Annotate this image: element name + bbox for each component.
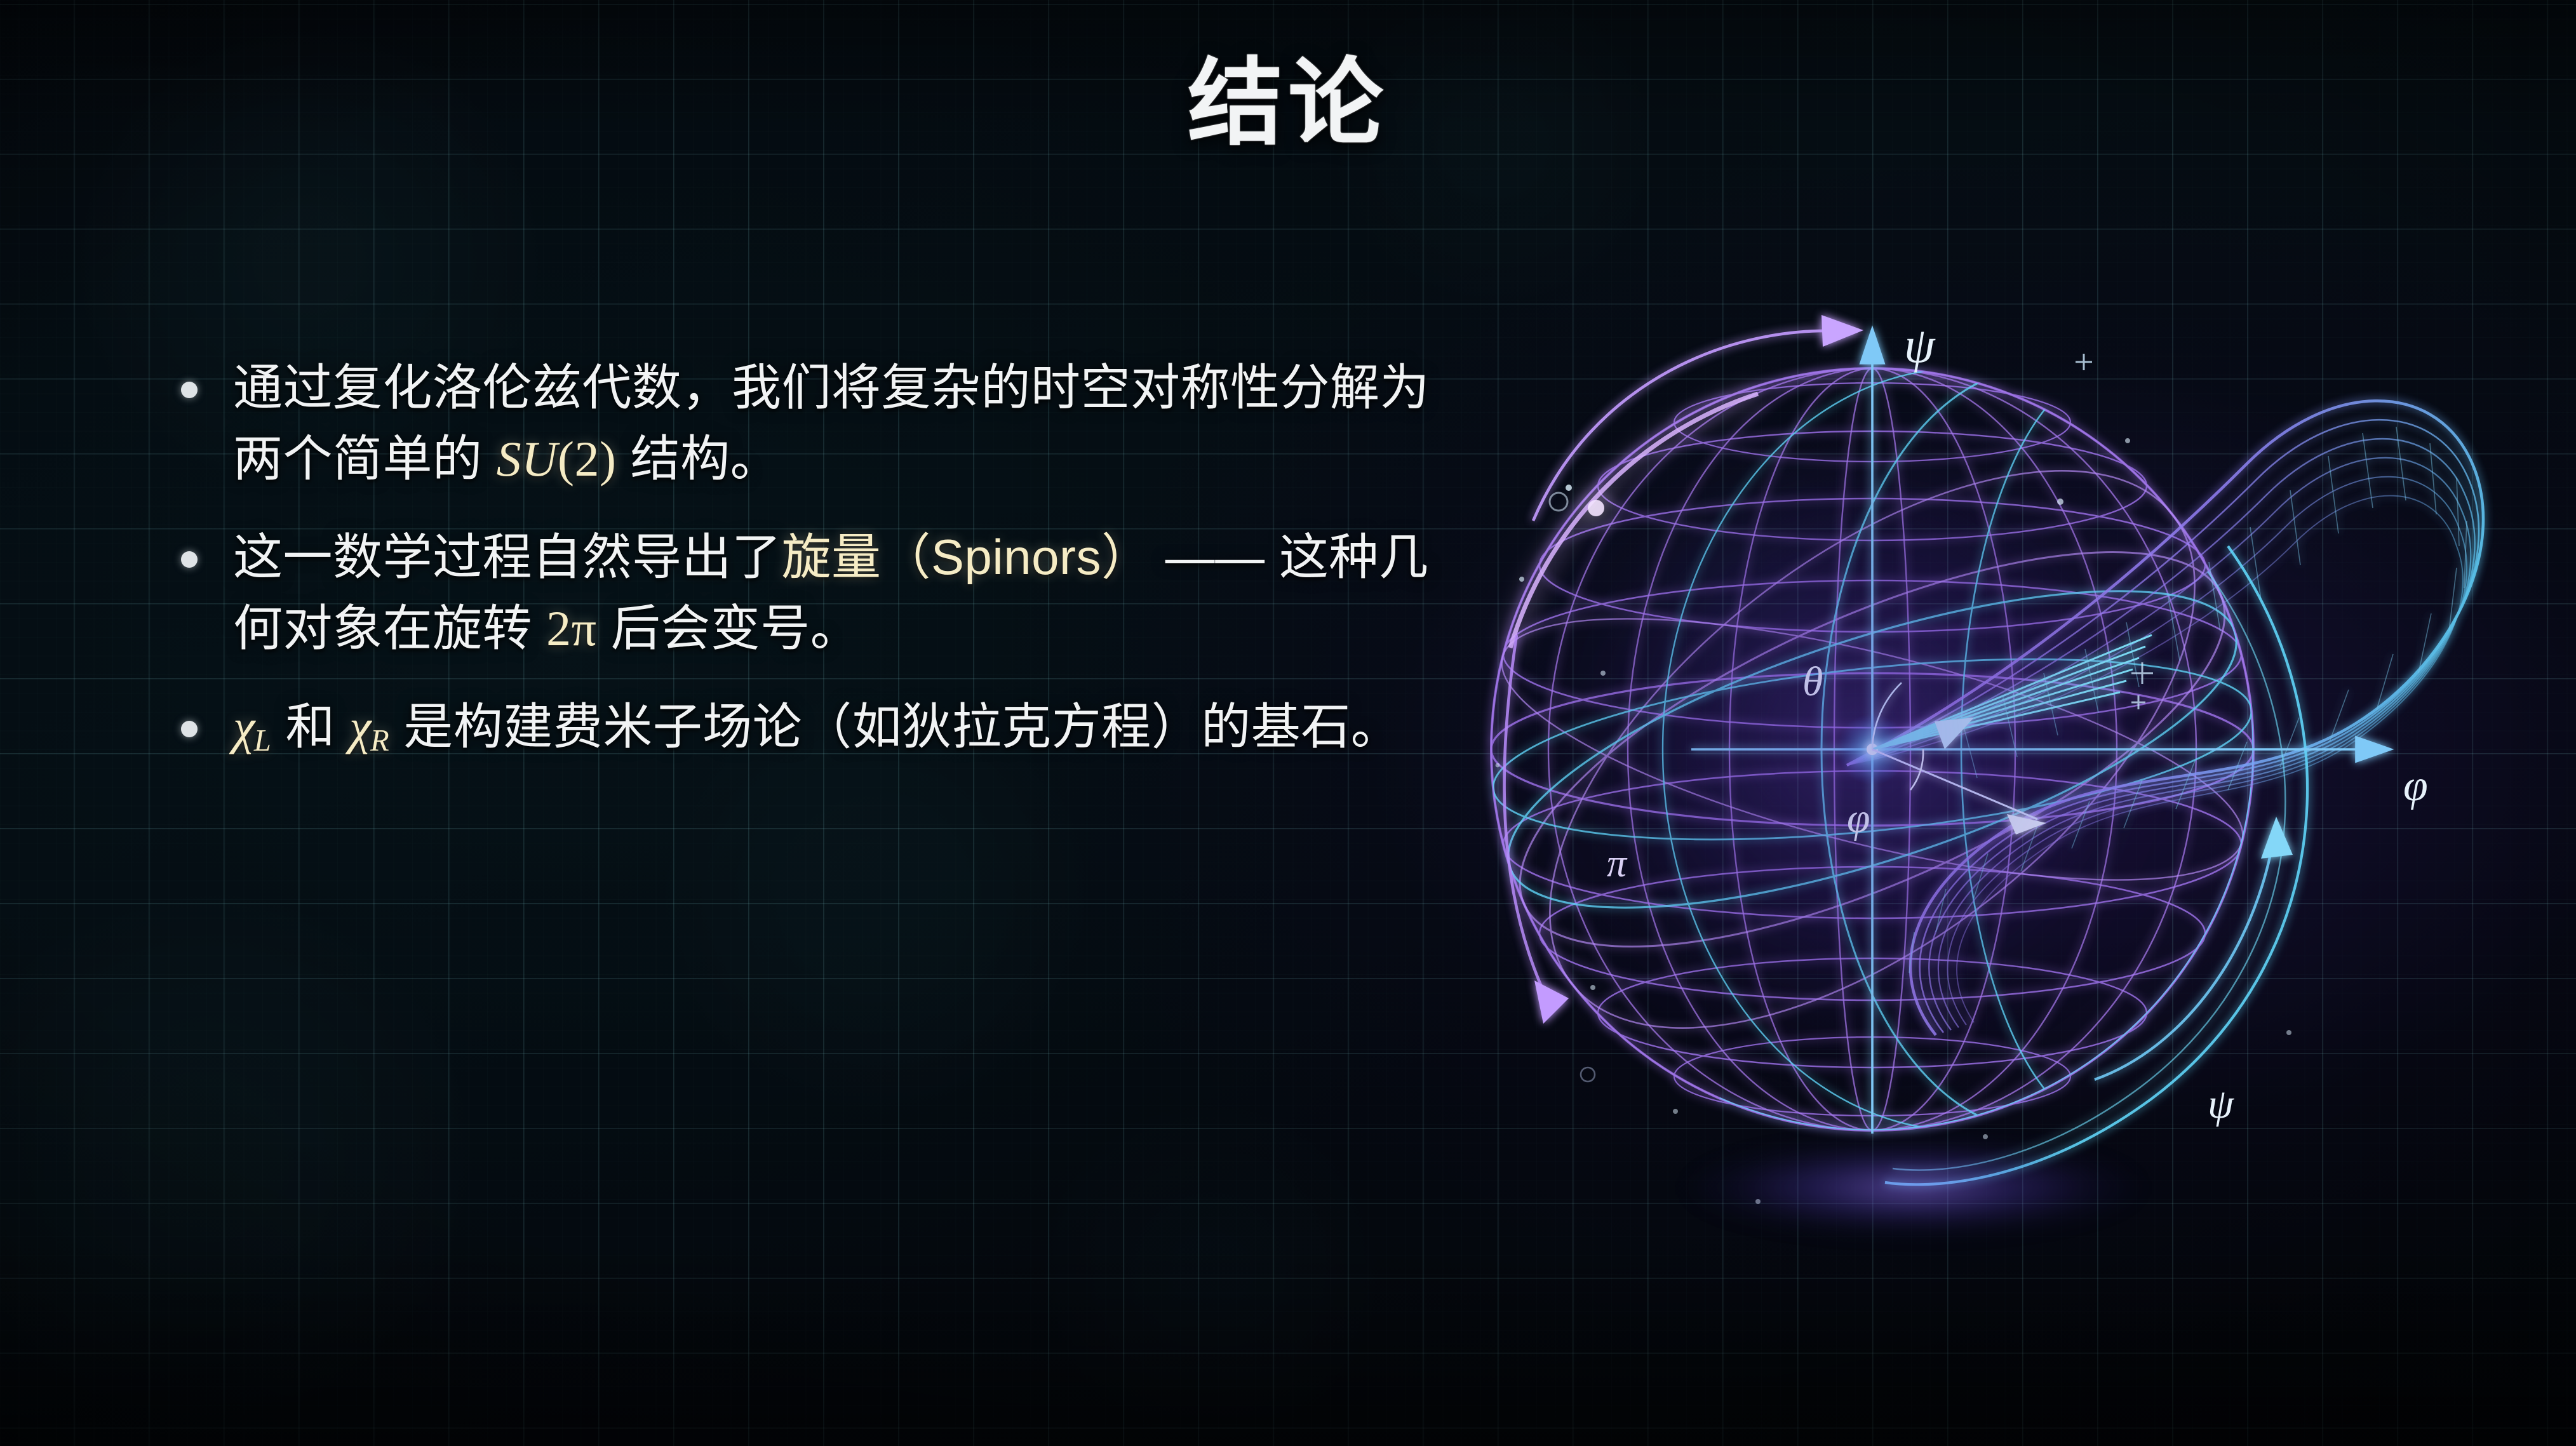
slide-root: ψ θ φ φ π ψ 结论 通过复化洛伦兹代数，我们将复杂的时空对称性分解为两…: [0, 0, 2576, 1446]
label-phi-inplane: φ: [1847, 795, 1870, 841]
math-su-arg: (2): [558, 431, 616, 486]
phi-rotation-arrow: [2095, 817, 2293, 1080]
math-chi-left: χ: [233, 699, 255, 754]
math-chi-left-sub: L: [254, 724, 271, 758]
bullet-marker-icon: [181, 382, 198, 398]
label-phi-axis: φ: [2403, 761, 2428, 810]
label-theta: θ: [1802, 659, 1823, 705]
label-pi: π: [1607, 842, 1628, 885]
bullet-list: 通过复化洛伦兹代数，我们将复杂的时空对称性分解为两个简单的 SU(2) 结构。 …: [162, 352, 1432, 791]
label-psi-lower: ψ: [2208, 1081, 2234, 1127]
sphere-rim-highlight: [1510, 394, 1758, 648]
bullet-text-1: 通过复化洛伦兹代数，我们将复杂的时空对称性分解为两个简单的 SU(2) 结构。: [233, 359, 1430, 486]
math-two-pi: 2π: [546, 601, 596, 656]
blue-sweep-arc: [1885, 546, 2307, 1184]
bullet-text-2: 这一数学过程自然导出了旋量（Spinors） —— 这种几何对象在旋转 2π 后…: [233, 529, 1428, 656]
math-chi-right-sub: R: [370, 724, 389, 758]
list-item: χL 和 χR 是构建费米子场论（如狄拉克方程）的基石。: [162, 692, 1432, 763]
label-psi-axis: ψ: [1904, 318, 1936, 373]
theta-vector: [1872, 635, 2152, 749]
list-item: 这一数学过程自然导出了旋量（Spinors） —— 这种几何对象在旋转 2π 后…: [162, 522, 1432, 664]
bullet-marker-icon: [181, 551, 198, 568]
axes: [1691, 329, 2391, 1134]
page-title: 结论: [0, 53, 2576, 154]
bullet-text-3: χL 和 χR 是构建费米子场论（如狄拉克方程）的基石。: [233, 699, 1400, 754]
bullet-marker-icon: [181, 721, 198, 737]
list-item: 通过复化洛伦兹代数，我们将复杂的时空对称性分解为两个简单的 SU(2) 结构。: [162, 352, 1432, 494]
math-su: SU: [497, 431, 558, 486]
highlight-spinor: 旋量（Spinors）: [782, 529, 1151, 585]
sphere-svg: ψ θ φ φ π ψ: [1402, 191, 2576, 1353]
math-chi-right: χ: [349, 699, 372, 754]
spinor-sphere-figure: ψ θ φ φ π ψ: [1402, 191, 2576, 1353]
